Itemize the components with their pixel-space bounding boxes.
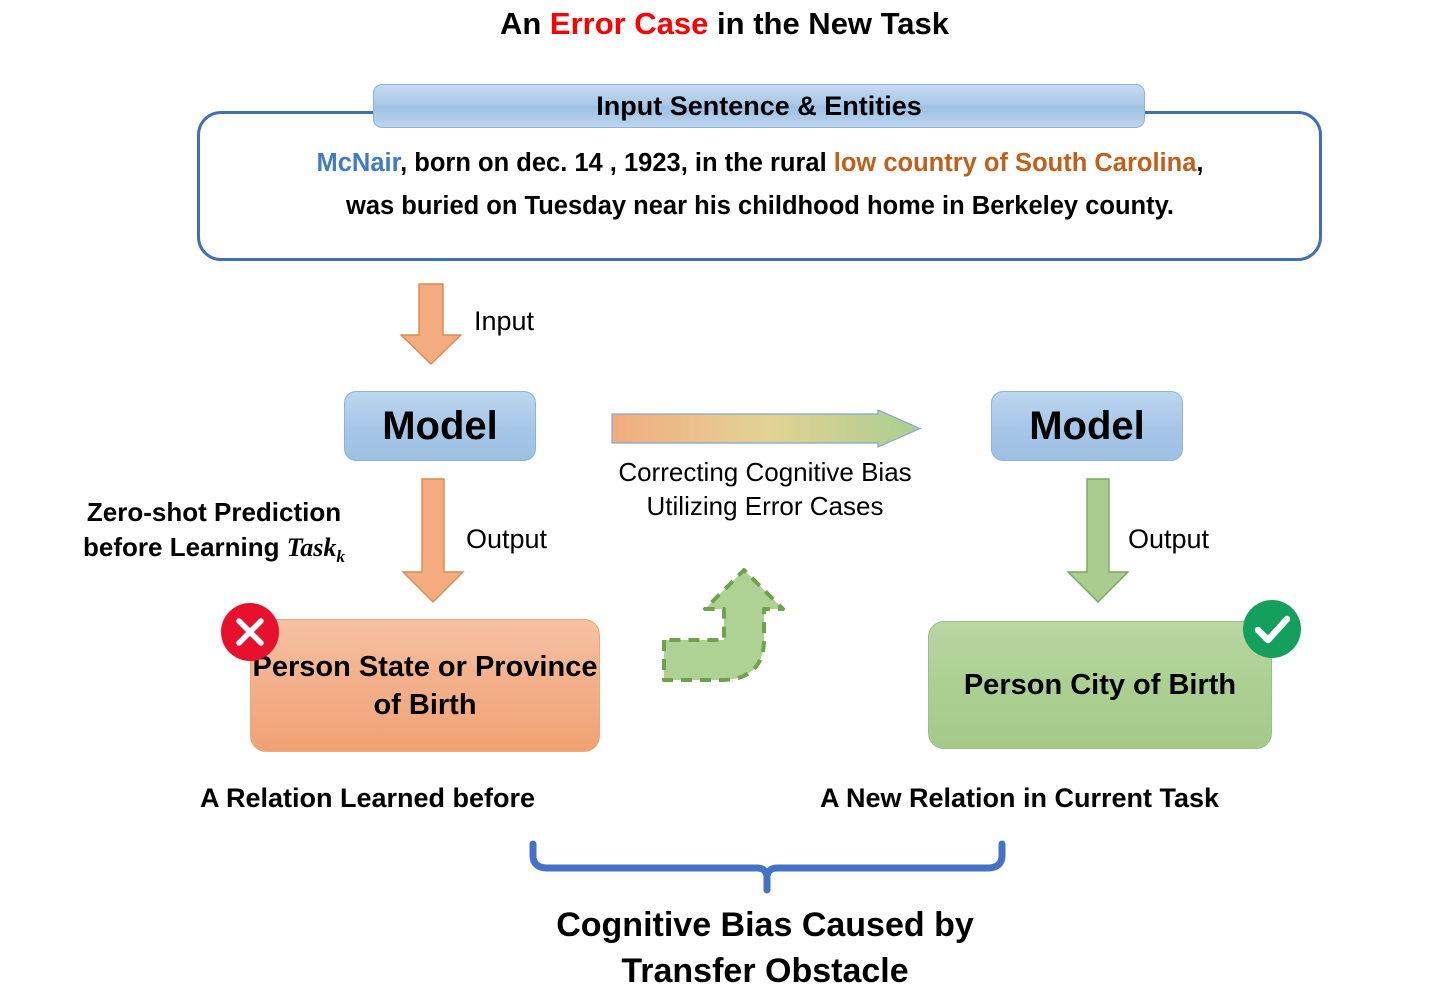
model-left-label: Model [382,404,498,449]
cross-icon [221,603,279,661]
sentence-segment-2: , [1196,149,1203,177]
output-arrow-left-label: Output [466,524,547,555]
task-symbol-base: Task [287,533,337,562]
output-arrow-right-label: Output [1128,524,1209,555]
output-arrow-left-icon [400,478,466,604]
page-title: An Error Case in the New Task [0,6,1449,42]
result-error-label: Person State or Province of Birth [251,648,599,724]
caption-relation-learned: A Relation Learned before [200,783,535,814]
feedback-arrow-icon [660,567,795,687]
input-arrow-icon [398,283,464,366]
entity-head: McNair [316,149,400,177]
diagram-canvas: An Error Case in the New Task Input Sent… [0,0,1449,1000]
input-panel-banner-label: Input Sentence & Entities [596,91,922,122]
zero-shot-line-2: before Learning Taskk [44,530,384,574]
caption-new-relation: A New Relation in Current Task [820,783,1219,814]
title-after: in the New Task [708,6,949,41]
input-sentence: McNair, born on dec. 14 , 1923, in the r… [215,142,1305,228]
model-right-label: Model [1029,404,1145,449]
input-panel-banner: Input Sentence & Entities [373,84,1145,128]
zero-shot-task-symbol: Taskk [287,533,345,562]
sentence-segment-1: , born on dec. 14 , 1923, in the rural [400,149,834,177]
title-highlight: Error Case [550,6,709,41]
check-icon [1243,600,1301,658]
brace-icon [525,838,1010,894]
model-box-left: Model [344,391,536,461]
zero-shot-line-1: Zero-shot Prediction [44,495,384,530]
result-correct-label: Person City of Birth [964,666,1236,704]
zero-shot-note: Zero-shot Prediction before Learning Tas… [44,495,384,574]
task-symbol-subscript: k [336,547,345,566]
model-box-right: Model [991,391,1183,461]
conclusion-text: Cognitive Bias Caused by Transfer Obstac… [300,902,1230,994]
entity-tail: low country of South Carolina [834,149,1197,177]
zero-shot-prefix: before Learning [83,532,287,562]
sentence-line-2: was buried on Tuesday near his childhood… [215,185,1305,228]
output-arrow-right-icon [1065,478,1131,604]
title-before: An [500,6,550,41]
input-arrow-label: Input [474,306,534,337]
transfer-arrow-icon [610,408,922,450]
result-box-error: Person State or Province of Birth [250,619,600,752]
transfer-arrow-label: Correcting Cognitive Bias Utilizing Erro… [565,455,965,523]
result-box-correct: Person City of Birth [928,621,1272,749]
